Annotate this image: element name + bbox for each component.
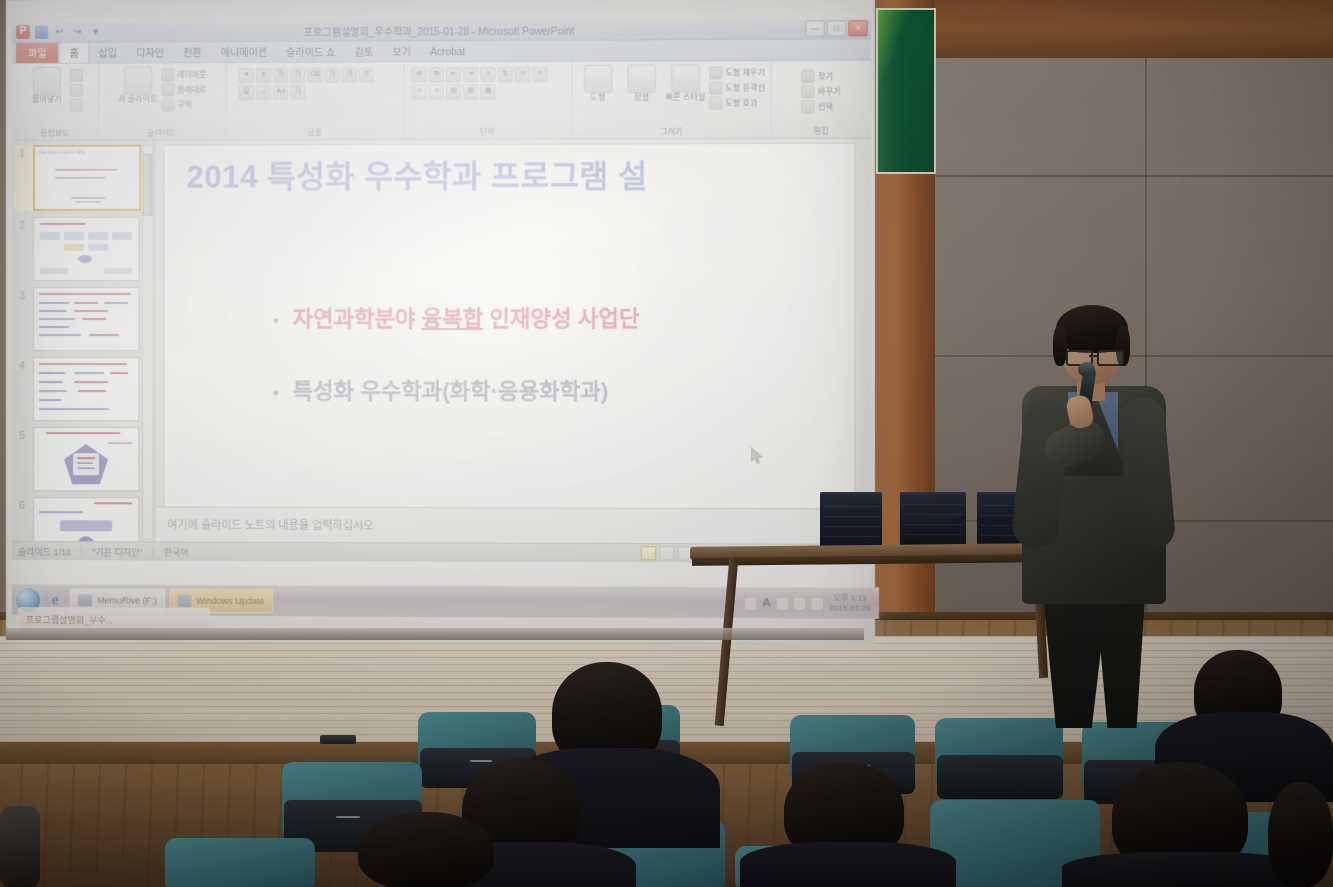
justify-button[interactable]: ≡ — [429, 84, 444, 99]
thumbnail-image[interactable] — [33, 217, 139, 281]
new-slide-icon — [124, 66, 152, 94]
paragraph-controls[interactable]: ≔ ≕ ⇤ ⇥ ≡ ⇅ ≡ ≡ ≡ ≡ ▥ ▤ ▦ — [412, 65, 564, 100]
thumbnail-number: 4 — [14, 357, 30, 372]
shapes-label: 도형 — [590, 94, 605, 103]
tab-acrobat[interactable]: Acrobat — [421, 45, 474, 61]
ceiling-beam — [930, 0, 1333, 58]
ribbon-group-font: ▾ ▾ 가 가 ⌫ 가 가 S 밑 ↔ Aa 가 글꼴 — [227, 62, 404, 139]
group-label-editing: 편집 — [771, 126, 871, 137]
presenter-legs — [1038, 588, 1150, 728]
slide-thumbnail-6[interactable]: 6 — [14, 497, 152, 541]
section-label: 구역 — [177, 99, 192, 110]
remote-control — [320, 735, 356, 744]
cut-button[interactable] — [70, 69, 83, 82]
copy-icon — [70, 84, 83, 97]
thumbnail-image[interactable] — [33, 357, 139, 421]
tab-review[interactable]: 검토 — [345, 41, 382, 61]
presenter-glasses-right — [1097, 350, 1124, 366]
align-center-button[interactable]: ≡ — [532, 67, 547, 82]
auditorium-seat — [165, 838, 315, 887]
arrange-icon — [627, 65, 656, 93]
seat-highlight — [336, 816, 360, 818]
slide-thumbnail-5[interactable]: 5 — [14, 427, 152, 491]
shape-fill-button[interactable]: 도형 채우기 — [709, 66, 765, 79]
line-spacing-button[interactable]: ≡ — [480, 67, 495, 82]
slide-thumbnail-3[interactable]: 3 — [14, 287, 152, 351]
paste-icon — [33, 67, 61, 95]
search-icon — [802, 70, 815, 83]
font-color-button[interactable]: 가 — [290, 85, 305, 100]
slide-thumbnail-pane[interactable]: 1 2014 특성화 우수학과 프로그램 설 2 — [12, 141, 155, 542]
thumbnail-number: 1 — [14, 145, 30, 160]
divider — [81, 546, 82, 557]
tab-file[interactable]: 파일 — [16, 42, 58, 63]
audience-shoulders — [740, 842, 956, 887]
tab-insert[interactable]: 삽입 — [90, 43, 127, 63]
slide-thumbnail-1[interactable]: 1 2014 특성화 우수학과 프로그램 설 — [14, 145, 152, 211]
effects-icon — [709, 97, 722, 110]
clear-formatting-button[interactable]: ⌫ — [308, 68, 323, 83]
korean-ime-icon[interactable] — [777, 598, 788, 609]
shapes-button[interactable]: 도형 — [577, 65, 618, 103]
language-indicator[interactable]: 한국어 — [164, 545, 189, 558]
network-icon[interactable] — [811, 598, 822, 609]
taskbar-item-label: MemoRive (F:) — [97, 595, 157, 605]
shape-effects-label: 도형 효과 — [725, 98, 757, 109]
tab-design[interactable]: 디자인 — [127, 42, 173, 62]
bold-button[interactable]: 가 — [325, 68, 340, 83]
green-board — [876, 8, 936, 174]
update-icon — [177, 595, 191, 607]
quick-styles-button[interactable]: 빠른 스타일 — [665, 64, 706, 102]
slide-body-placeholder[interactable]: • 자연과학분야 융복합 인재양성 사업단 • 특성화 우수학과(화학·응용화학… — [273, 301, 844, 447]
reset-button[interactable]: 원래대로 — [161, 83, 207, 96]
strikethrough-button[interactable]: S — [359, 68, 374, 83]
ribbon: 붙여넣기 클립보드 새 슬라이드 — [12, 61, 871, 141]
shape-outline-button[interactable]: 도형 윤곽선 — [709, 81, 765, 94]
thumbnail-image[interactable]: 2014 특성화 우수학과 프로그램 설 — [33, 145, 141, 211]
arrange-label: 정렬 — [634, 94, 649, 103]
drive-icon — [78, 594, 92, 606]
bullets-button[interactable]: ≔ — [412, 67, 427, 82]
presenter-glasses-bridge — [1089, 355, 1097, 357]
thumbnail-image[interactable] — [33, 287, 139, 351]
ribbon-group-drawing: 도형 정렬 빠른 스타일 도형 채우기 도형 윤곽선 — [572, 61, 771, 138]
replace-button[interactable]: 바꾸기 — [802, 85, 841, 98]
bullet-item-1[interactable]: • 자연과학분야 융복합 인재양성 사업단 — [273, 301, 844, 333]
decrease-indent-button[interactable]: ⇤ — [446, 67, 461, 82]
layout-button[interactable]: 레이아웃 — [161, 68, 207, 81]
replace-label: 바꾸기 — [818, 86, 841, 97]
current-slide[interactable]: 2014 특성화 우수학과 프로그램 설 • 자연과학분야 융복합 인재양성 사… — [163, 143, 855, 530]
powerpoint-window: P ↩ ↪ ▾ 프로그램설명회_우수학과_2015-01-28 - Micros… — [12, 18, 871, 587]
screen-bottom-bar — [6, 628, 864, 640]
slide-counter[interactable]: 슬라이드 1/18 — [18, 545, 71, 558]
fill-icon — [709, 66, 722, 79]
underline-button[interactable]: 밑 — [239, 85, 254, 100]
taskbar-item-label: Windows Update — [196, 596, 264, 606]
shapes-icon — [584, 65, 612, 93]
new-slide-label: 새 슬라이드 — [118, 95, 157, 104]
group-label-clipboard: 클립보드 — [12, 128, 98, 139]
ribbon-group-paragraph: ≔ ≕ ⇤ ⇥ ≡ ⇅ ≡ ≡ ≡ ≡ ▥ ▤ ▦ 단락 — [404, 62, 572, 139]
tab-transitions[interactable]: 전환 — [174, 42, 211, 62]
window-title: 프로그램설명회_우수학과_2015-01-28 - Microsoft Powe… — [12, 21, 871, 40]
format-painter-button[interactable] — [70, 99, 83, 112]
find-label: 찾기 — [818, 71, 833, 82]
thumbnail-number: 3 — [14, 287, 30, 302]
clock-time: 오후 1:13 — [833, 593, 866, 603]
align-text-button[interactable]: ▤ — [463, 84, 478, 99]
bullet-1-post: 인재양성 사업단 — [483, 306, 639, 331]
quick-styles-label: 빠른 스타일 — [666, 94, 706, 103]
audience-silhouette — [0, 806, 40, 887]
view-normal-button[interactable] — [641, 546, 656, 560]
flag-icon[interactable] — [745, 598, 756, 609]
slide-thumbnail-2[interactable]: 2 — [14, 217, 152, 281]
grow-font-button[interactable]: 가 — [273, 68, 288, 83]
bullet-1-underlined: 융복합 — [422, 306, 484, 331]
paste-label: 붙여넣기 — [32, 96, 61, 104]
notes-pane[interactable]: 여기에 슬라이드 노트의 내용을 입력하십시오 — [155, 506, 871, 543]
wall-seam — [930, 355, 1333, 357]
brush-icon — [70, 99, 83, 112]
smartart-button[interactable]: ▦ — [480, 84, 495, 99]
speaker-icon[interactable] — [794, 598, 805, 609]
increase-indent-button[interactable]: ⇥ — [463, 67, 478, 82]
maximize-button[interactable]: □ — [827, 20, 846, 36]
seat-back — [937, 755, 1063, 799]
select-button[interactable]: 선택 — [802, 100, 841, 113]
shrink-font-button[interactable]: 가 — [290, 68, 305, 83]
reset-label: 원래대로 — [177, 84, 207, 95]
thumbnail-number: 2 — [14, 217, 30, 232]
copy-button[interactable] — [70, 84, 83, 97]
tab-view[interactable]: 보기 — [383, 41, 420, 61]
presenter-hair-side-left — [1053, 326, 1067, 366]
numbering-button[interactable]: ≕ — [429, 67, 444, 82]
group-label-paragraph: 단락 — [404, 126, 571, 138]
editor-area: 1 2014 특성화 우수학과 프로그램 설 2 — [12, 139, 871, 544]
text-direction-button[interactable]: ⇅ — [498, 67, 513, 82]
change-case-button[interactable]: Aa — [273, 85, 288, 100]
status-spacer — [199, 552, 631, 553]
scissors-icon — [70, 69, 83, 82]
reset-icon — [161, 83, 174, 96]
audience-head — [1268, 782, 1333, 887]
bullet-marker: • — [273, 386, 279, 402]
section-icon — [161, 98, 174, 111]
window-controls[interactable]: — □ ✕ — [805, 20, 868, 36]
font-size-dropdown[interactable]: ▾ — [256, 68, 271, 83]
outline-icon — [709, 81, 722, 94]
ime-letter-icon[interactable]: A — [762, 597, 770, 609]
replace-icon — [802, 85, 815, 98]
taskbar-clock[interactable]: 오후 1:13 2015-01-28 — [829, 593, 871, 613]
audience-head — [358, 812, 494, 887]
italic-button[interactable]: 가 — [342, 68, 357, 83]
windows-taskbar[interactable]: e MemoRive (F:) Windows Update P 프로그램설명회… — [12, 584, 879, 619]
tab-slideshow[interactable]: 슬라이드 쇼 — [277, 42, 344, 62]
group-label-slides: 슬라이드 — [99, 127, 226, 138]
paste-button[interactable]: 붙여넣기 — [27, 67, 67, 105]
bullet-1-pre: 자연과학분야 — [293, 306, 422, 331]
ribbon-group-clipboard: 붙여넣기 클립보드 — [12, 64, 99, 140]
thumbnail-number: 5 — [14, 427, 30, 442]
tab-animations[interactable]: 애니메이션 — [212, 42, 276, 62]
bullet-item-2[interactable]: • 특성화 우수학과(화학·응용화학과) — [273, 373, 844, 406]
title-bar: P ↩ ↪ ▾ 프로그램설명회_우수학과_2015-01-28 - Micros… — [12, 18, 871, 43]
taskbar-item-label: 프로그램설명회_우수... — [26, 613, 113, 626]
theme-name[interactable]: "기본 디자인" — [92, 545, 142, 558]
thumbnail-scrollbar[interactable] — [142, 145, 153, 540]
new-slide-button[interactable]: 새 슬라이드 — [118, 66, 158, 104]
thumbnail-image[interactable] — [33, 427, 139, 491]
wall-seam — [930, 175, 1333, 177]
group-label-font: 글꼴 — [227, 127, 403, 139]
ribbon-group-slides: 새 슬라이드 레이아웃 원래대로 구역 슬라이드 — [99, 63, 227, 140]
slide-canvas-area[interactable]: 2014 특성화 우수학과 프로그램 설 • 자연과학분야 융복합 인재양성 사… — [155, 139, 871, 544]
bullet-text-2: 특성화 우수학과(화학·응용화학과) — [293, 373, 609, 406]
align-left-button[interactable]: ≡ — [515, 67, 530, 82]
shape-fill-label: 도형 채우기 — [725, 67, 765, 78]
thumbnail-image[interactable] — [33, 497, 139, 541]
close-button[interactable]: ✕ — [848, 20, 867, 36]
quick-styles-icon — [671, 64, 700, 92]
minimize-button[interactable]: — — [805, 20, 824, 36]
tab-home[interactable]: 홈 — [59, 42, 88, 63]
seat-highlight — [470, 760, 492, 762]
select-icon — [802, 100, 815, 113]
font-controls[interactable]: ▾ ▾ 가 가 ⌫ 가 가 S 밑 ↔ Aa 가 — [239, 66, 390, 101]
microphone-head — [1078, 362, 1095, 377]
layout-label: 레이아웃 — [177, 69, 207, 80]
slide-thumbnail-4[interactable]: 4 — [14, 357, 152, 421]
notes-placeholder[interactable]: 여기에 슬라이드 노트의 내용을 입력하십시오 — [167, 516, 373, 533]
scrollbar-thumb[interactable] — [143, 154, 152, 216]
columns-button[interactable]: ▥ — [446, 84, 461, 99]
shape-effects-button[interactable]: 도형 효과 — [709, 96, 765, 109]
character-spacing-button[interactable]: ↔ — [256, 85, 271, 100]
arrange-button[interactable]: 정렬 — [621, 65, 662, 103]
group-label-drawing: 그리기 — [572, 126, 770, 138]
view-slide-sorter-button[interactable] — [659, 546, 674, 560]
section-button[interactable]: 구역 — [161, 98, 207, 111]
system-tray[interactable]: A 오후 1:13 2015-01-28 — [745, 593, 875, 614]
select-label: 선택 — [818, 101, 833, 112]
thumbnail-number: 6 — [14, 497, 30, 512]
find-button[interactable]: 찾기 — [802, 70, 841, 83]
clock-date: 2015-01-28 — [829, 603, 871, 613]
align-right-button[interactable]: ≡ — [412, 85, 427, 100]
divider — [153, 546, 154, 557]
ribbon-group-editing: 찾기 바꾸기 선택 편집 — [771, 61, 871, 138]
thumb-title: 2014 특성화 우수학과 프로그램 설 — [39, 151, 135, 156]
bullet-text-1: 자연과학분야 융복합 인재양성 사업단 — [293, 301, 640, 333]
bullet-marker: • — [273, 314, 279, 330]
lecture-hall-photo: P ↩ ↪ ▾ 프로그램설명회_우수학과_2015-01-28 - Micros… — [0, 0, 1333, 887]
font-family-dropdown[interactable]: ▾ — [239, 68, 254, 83]
shape-outline-label: 도형 윤곽선 — [725, 82, 765, 93]
layout-icon — [161, 68, 174, 81]
slide-title[interactable]: 2014 특성화 우수학과 프로그램 설 — [186, 150, 854, 197]
